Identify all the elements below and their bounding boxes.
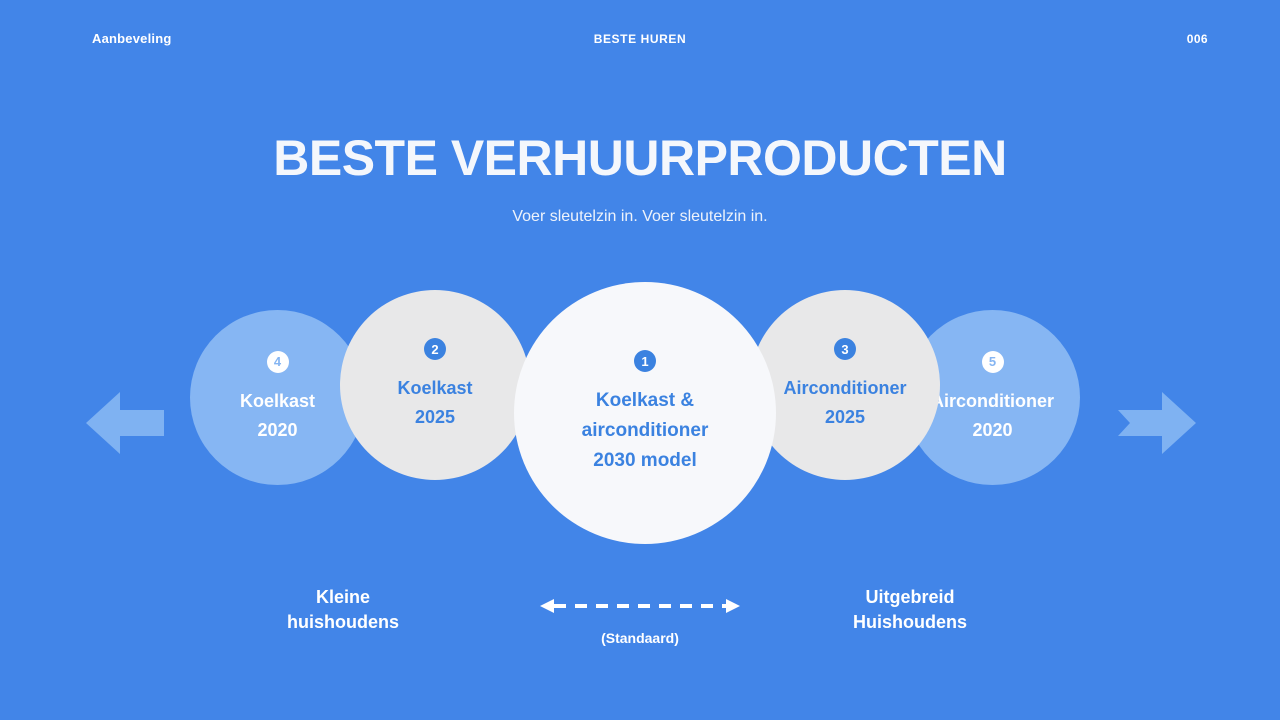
arrow-right-icon (1118, 390, 1196, 456)
dashed-double-arrow-icon (540, 596, 740, 616)
standard-caption: (Standaard) (510, 630, 770, 646)
arrow-left-icon (86, 390, 164, 456)
bubble-label-2: Koelkast 2025 (360, 374, 510, 432)
bubble-label-1: Koelkast & airconditioner 2030 model (560, 386, 730, 476)
header-deck-title: BESTE HUREN (0, 32, 1280, 46)
bubble-badge-5: 5 (982, 351, 1004, 373)
venn-bubble-4[interactable]: 4 Koelkast 2020 (190, 310, 365, 485)
bubble-badge-2: 2 (424, 338, 446, 360)
venn-bubble-1[interactable]: 1 Koelkast & airconditioner 2030 model (514, 282, 776, 544)
footer-label-large-households: Uitgebreid Huishoudens (780, 585, 1040, 635)
page-title: BESTE VERHUURPRODUCTEN (0, 128, 1280, 188)
bubble-badge-3: 3 (834, 338, 856, 360)
bubble-label-3: Airconditioner 2025 (770, 374, 920, 432)
bubble-badge-4: 4 (267, 351, 289, 373)
standard-range-indicator: (Standaard) (510, 596, 770, 646)
footer-label-small-households: Kleine huishoudens (213, 585, 473, 635)
page-subtitle: Voer sleutelzin in. Voer sleutelzin in. (0, 205, 1280, 229)
slide-header: Aanbeveling BESTE HUREN 006 (0, 0, 1280, 80)
venn-diagram: 4 Koelkast 2020 5 Airconditioner 2020 2 … (0, 270, 1280, 570)
bubble-label-5: Airconditioner 2020 (918, 387, 1068, 445)
bubble-badge-1: 1 (634, 350, 656, 372)
venn-bubble-3[interactable]: 3 Airconditioner 2025 (750, 290, 940, 480)
bubble-label-4: Koelkast 2020 (208, 387, 348, 445)
header-page-number: 006 (1187, 32, 1208, 46)
venn-bubble-2[interactable]: 2 Koelkast 2025 (340, 290, 530, 480)
